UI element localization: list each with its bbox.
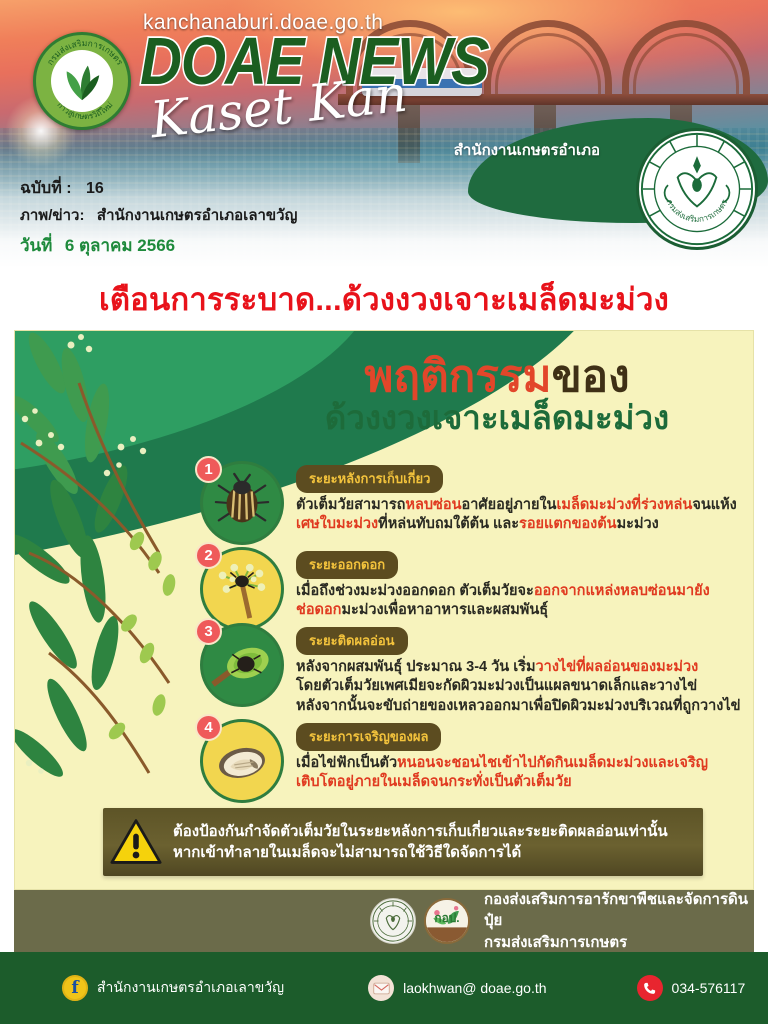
issue-label: ฉบับที่ : xyxy=(20,180,72,197)
step-row-1: 1 ระยะหลังการเก็บเกี่ยว ตัวเต็มวัยสามารถ… xyxy=(200,461,748,545)
step2-line1: เมื่อถึงช่วงมะม่วงออกดอก ตัวเต็มวัยจะออก… xyxy=(296,582,748,601)
step-body-4: ระยะการเจริญของผล เมื่อไข่ฟักเป็นตัวหนอน… xyxy=(296,719,748,793)
credit-band-line1: กองส่งเสริมการอารักขาพืชและจัดการดินปุ๋ย xyxy=(484,889,754,932)
step-body-3: ระยะติดผลอ่อน หลังจากผสมพันธุ์ ประมาณ 3-… xyxy=(296,623,748,716)
warning-text: ต้องป้องกันกำจัดตัวเต็มวัยในระยะหลังการเ… xyxy=(169,821,668,863)
step-badge-3: 3 xyxy=(195,618,222,645)
step-chip-1: ระยะหลังการเก็บเกี่ยว xyxy=(296,465,443,493)
email-label: laokhwan@ doae.go.th xyxy=(403,980,546,996)
step-body-2: ระยะออกดอก เมื่อถึงช่วงมะม่วงออกดอก ตัวเ… xyxy=(296,547,748,621)
email-icon xyxy=(368,975,394,1001)
mango-flower-icon xyxy=(211,558,273,620)
doae-logo: กรมส่งเสริมการเกษตร ก้าวสู่เกษตรวิถีใหม่ xyxy=(33,32,131,130)
step4-line1: เมื่อไข่ฟักเป็นตัวหนอนจะชอนไชเข้าไปกัดกิ… xyxy=(296,754,748,773)
title-part-behavior: พฤติกรรม xyxy=(364,352,551,401)
kpp-logo: กอป. xyxy=(424,898,470,944)
step3-line3: หลังจากนั้นจะขับถ่ายของเหลวออกมาเพื่อปิด… xyxy=(296,697,748,716)
step-badge-2: 2 xyxy=(195,542,222,569)
garuda-seal-icon: กรมส่งเสริมการเกษตร xyxy=(639,130,755,248)
step-row-2: 2 xyxy=(200,547,748,631)
contact-email[interactable]: laokhwan@ doae.go.th xyxy=(368,975,546,1001)
title-subject: ด้วงงวงเจาะเมล็ดมะม่วง xyxy=(247,401,747,436)
page-headline: เตือนการระบาด...ด้วงงวงเจาะเมล็ดมะม่วง xyxy=(0,268,768,330)
step-chip-2: ระยะออกดอก xyxy=(296,551,398,579)
svg-text:กอป.: กอป. xyxy=(434,911,459,925)
contact-phone[interactable]: 034-576117 xyxy=(637,975,746,1001)
facebook-label: สำนักงานเกษตรอำเภอเลาขวัญ xyxy=(97,977,284,999)
step-row-3: 3 ระยะติดผลอ่อน หลังจากผสมพันธุ์ ประมาณ … xyxy=(200,623,748,716)
mango-seed-larva-icon xyxy=(211,730,273,792)
contact-bar: f สำนักงานเกษตรอำเภอเลาขวัญ laokhwan@ do… xyxy=(0,952,768,1024)
svg-text:กรมส่งเสริมการเกษตร: กรมส่งเสริมการเกษตร xyxy=(665,198,730,224)
kpp-logo-icon: กอป. xyxy=(426,899,468,943)
warning-box: ต้องป้องกันกำจัดตัวเต็มวัยในระยะหลังการเ… xyxy=(103,808,703,876)
step-text-1: ตัวเต็มวัยสามารถหลบซ่อนอาศัยอยู่ภายในเมล… xyxy=(296,496,748,535)
warning-line-2: หากเข้าทำลายในเมล็ดจะไม่สามารถใช้วิธีใดจ… xyxy=(173,842,668,863)
step-badge-1: 1 xyxy=(195,456,222,483)
title-part-of: ของ xyxy=(552,352,630,401)
phone-glyph xyxy=(642,981,657,996)
doae-seal: กรมส่งเสริมการเกษตร xyxy=(636,128,758,250)
phone-icon xyxy=(637,975,663,1001)
step-icon-beetle: 1 xyxy=(200,461,284,545)
step-icon-seed-larva: 4 xyxy=(200,719,284,803)
step1-line1: ตัวเต็มวัยสามารถหลบซ่อนอาศัยอยู่ภายในเมล… xyxy=(296,496,748,515)
step-badge-4: 4 xyxy=(195,714,222,741)
contact-facebook[interactable]: f สำนักงานเกษตรอำเภอเลาขวัญ xyxy=(62,975,284,1001)
step-row-4: 4 ระยะการเจริญของผล เมื่อไข่ฟักเป็นตัวหน… xyxy=(200,719,748,803)
issue-value: 16 xyxy=(86,180,104,197)
warning-triangle-wrap xyxy=(103,818,169,866)
beetle-icon xyxy=(211,472,273,534)
headline-text: เตือนการระบาด...ด้วงงวงเจาะเมล็ดมะม่วง xyxy=(99,274,669,324)
garuda-seal-small-icon xyxy=(371,899,415,943)
credit-value: สำนักงานเกษตรอำเภอเลาขวัญ xyxy=(97,207,297,224)
doae-seal-small xyxy=(370,898,416,944)
date-value: 6 ตุลาคม 2566 xyxy=(65,236,175,255)
date-line: วันที่ 6 ตุลาคม 2566 xyxy=(20,232,175,259)
credit-label: ภาพ/ข่าว: xyxy=(20,207,84,224)
step3-line2: โดยตัวเต็มวัยเพศเมียจะกัดผิวมะม่วงเป็นแผ… xyxy=(296,677,748,696)
young-fruit-icon xyxy=(211,634,273,696)
step-body-1: ระยะหลังการเก็บเกี่ยว ตัวเต็มวัยสามารถหล… xyxy=(296,461,748,535)
step2-line2: ช่อดอกมะม่วงเพื่อหาอาหารและผสมพันธุ์ xyxy=(296,601,748,620)
step-icon-young-fruit: 3 xyxy=(200,623,284,707)
step-chip-3: ระยะติดผลอ่อน xyxy=(296,627,408,655)
credit-band-line2: กรมส่งเสริมการเกษตร xyxy=(484,932,754,953)
leaf-icon xyxy=(59,58,105,104)
step-text-2: เมื่อถึงช่วงมะม่วงออกดอก ตัวเต็มวัยจะออก… xyxy=(296,582,748,621)
facebook-icon: f xyxy=(62,975,88,1001)
step-text-3: หลังจากผสมพันธุ์ ประมาณ 3-4 วัน เริ่มวาง… xyxy=(296,658,748,716)
step1-line2: เศษใบมะม่วงที่หล่นทับถมใต้ต้น และรอยแตกข… xyxy=(296,515,748,534)
step-text-4: เมื่อไข่ฟักเป็นตัวหนอนจะชอนไชเข้าไปกัดกิ… xyxy=(296,754,748,793)
infographic-title: พฤติกรรมของ ด้วงงวงเจาะเมล็ดมะม่วง xyxy=(247,355,747,436)
phone-label: 034-576117 xyxy=(672,980,746,996)
credit-band: กอป. กองส่งเสริมการอารักขาพืชและจัดการดิ… xyxy=(14,890,754,952)
office-label: สำนักงานเกษตรอำเภอ xyxy=(454,138,600,162)
issue-line: ฉบับที่ : 16 xyxy=(20,176,104,201)
step4-line2: เติบโตอยู่ภายในเมล็ดจนกระทั่งเป็นตัวเต็ม… xyxy=(296,773,748,792)
warning-line-1: ต้องป้องกันกำจัดตัวเต็มวัยในระยะหลังการเ… xyxy=(173,821,668,842)
infographic-panel: พฤติกรรมของ ด้วงงวงเจาะเมล็ดมะม่วง 1 xyxy=(14,330,754,890)
warning-triangle-icon xyxy=(110,818,162,866)
credit-band-text: กองส่งเสริมการอารักขาพืชและจัดการดินปุ๋ย… xyxy=(484,889,754,953)
header-banner: กรมส่งเสริมการเกษตร ก้าวสู่เกษตรวิถีใหม่… xyxy=(0,0,768,268)
step-chip-4: ระยะการเจริญของผล xyxy=(296,723,441,751)
envelope-glyph xyxy=(373,982,390,995)
credit-line: ภาพ/ข่าว: สำนักงานเกษตรอำเภอเลาขวัญ xyxy=(20,203,297,227)
date-label: วันที่ xyxy=(20,236,52,255)
step3-line1: หลังจากผสมพันธุ์ ประมาณ 3-4 วัน เริ่มวาง… xyxy=(296,658,748,677)
